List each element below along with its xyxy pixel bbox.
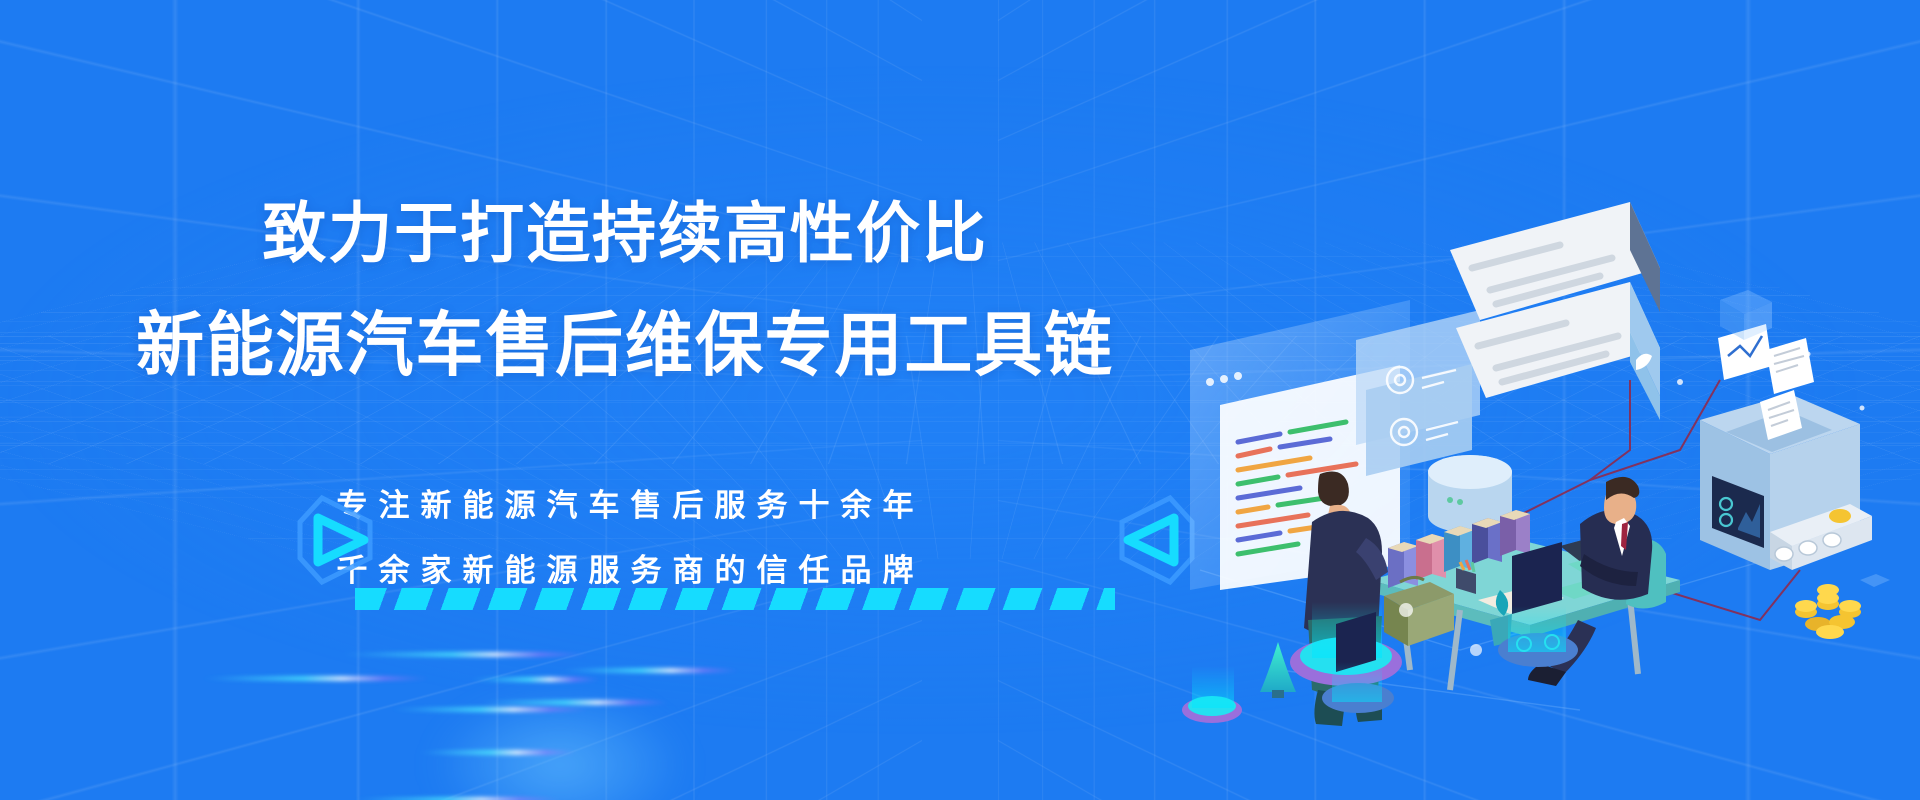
conifer-tree	[1260, 642, 1296, 698]
glowing-pedestal-small	[1182, 666, 1242, 723]
striped-divider-bar	[355, 588, 1115, 610]
subheadline-line-1: 专注新能源汽车售后服务十余年	[0, 480, 1250, 525]
play-triangle-hexagon-icon	[292, 492, 388, 588]
left-play-marker	[292, 492, 388, 588]
illustration-svg	[1160, 150, 1920, 710]
gold-coin-stack	[1795, 584, 1861, 639]
hero-banner: 致力于打造持续高性价比 新能源汽车售后维保专用工具链 专注新能源汽车售后服务十余…	[0, 0, 1920, 800]
headline-line-1: 致力于打造持续高性价比	[19, 200, 1232, 266]
coin-printing-machine	[1700, 324, 1872, 570]
subheadline-line-2: 千余家新能源服务商的信任品牌	[0, 545, 1250, 590]
headline-line-2: 新能源汽车售后维保专用工具链	[19, 310, 1232, 380]
chat-message-cards	[1450, 202, 1660, 420]
isometric-illustration	[1160, 150, 1920, 710]
copy-block: 致力于打造持续高性价比 新能源汽车售后维保专用工具链 专注新能源汽车售后服务十余…	[0, 0, 1250, 800]
